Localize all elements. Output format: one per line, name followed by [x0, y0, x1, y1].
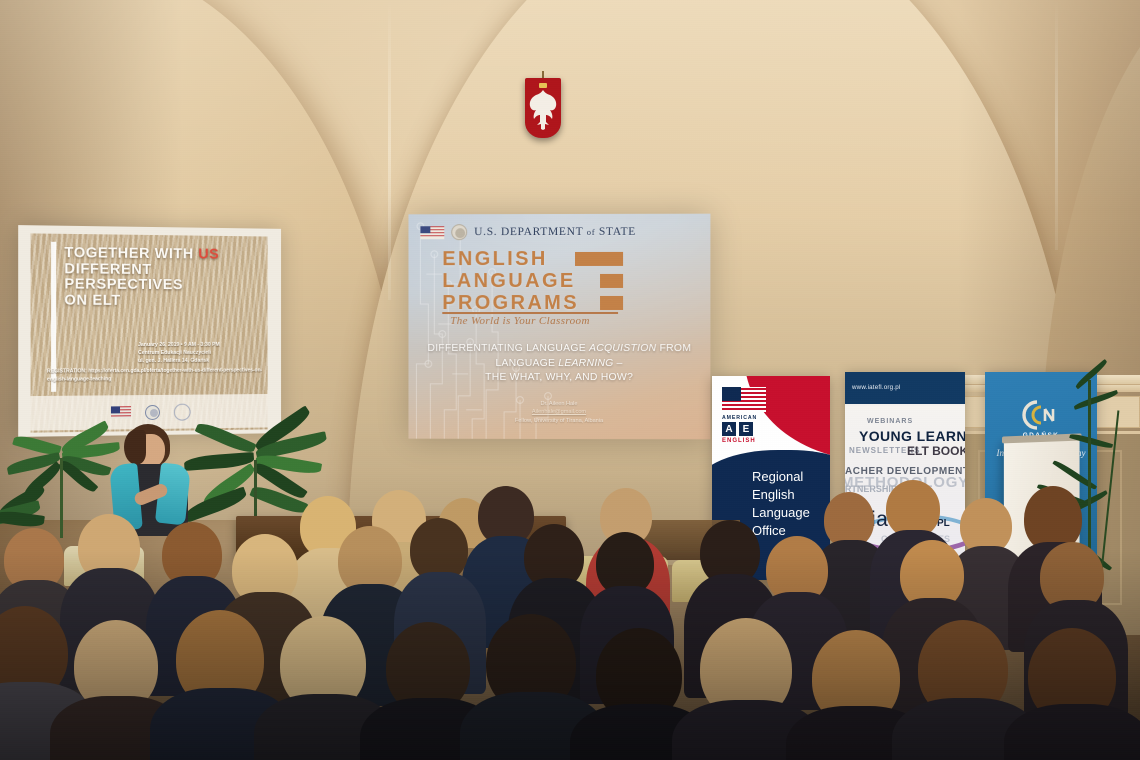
title-l2b: – [613, 358, 622, 369]
dept-of: of [587, 227, 595, 237]
department-wordmark: U.S. DEPARTMENT of STATE [474, 226, 636, 238]
banner-brand-bottom: ENGLISH [722, 438, 756, 444]
banner-brand-small: AMERICAN [722, 415, 757, 421]
presenter-affiliation: Fellow, University of Tirana, Albania [408, 417, 710, 426]
left-title-line4: ON ELT [64, 292, 120, 308]
logo-tagline: The World is Your Classroom [450, 315, 640, 327]
dept-text: U.S. DEPARTMENT [474, 226, 583, 238]
us-flag-icon [722, 387, 766, 412]
dept-state: STATE [599, 226, 636, 238]
left-title-highlight: US [198, 247, 219, 263]
logo-block-2 [600, 274, 623, 288]
left-slide-registration: REGISTRATION: https://oferta.cen.gda.pl/… [47, 367, 264, 383]
left-title-line3: PERSPECTIVES [64, 276, 183, 293]
main-slide-title: DIFFERENTIATING LANGUAGE ACQUISTION FROM… [408, 342, 710, 386]
presenter-hair-side [124, 430, 146, 464]
state-dept-seal-icon [451, 224, 467, 240]
partner-logo-icon [174, 403, 191, 420]
title-l3: THE WHAT, WHY, AND HOW? [485, 372, 633, 383]
banner-brand-letters: A E [722, 422, 753, 436]
left-slide-title: TOGETHER WITH US DIFFERENT PERSPECTIVES … [64, 246, 261, 309]
left-slide: TOGETHER WITH US DIFFERENT PERSPECTIVES … [31, 233, 268, 432]
title-l1a: DIFFERENTIATING LANGUAGE [427, 343, 589, 354]
state-dept-seal-icon [145, 404, 160, 419]
keyword-young-learners: YOUNG LEARNERS [859, 428, 965, 444]
projection-screen-left: TOGETHER WITH US DIFFERENT PERSPECTIVES … [18, 225, 281, 437]
logo-line-3: PROGRAMS [442, 292, 579, 314]
title-l1b: FROM [656, 343, 691, 354]
main-slide-presenter-credits: Dr. Aileen Hale Ailenhale@gmail.com Fell… [408, 400, 710, 426]
title-l1i: ACQUISTION [589, 343, 656, 354]
brand-letter-a: A [722, 422, 736, 436]
projection-screen-main: U.S. DEPARTMENT of STATE ENGLISH LANGUAG… [408, 214, 710, 440]
logo-block-3 [600, 296, 623, 310]
brand-letter-e: E [739, 422, 753, 436]
us-flag-icon [111, 406, 131, 418]
us-flag-icon [420, 226, 444, 239]
left-title-line2: DIFFERENT [64, 261, 151, 278]
title-l2a: LANGUAGE [495, 357, 558, 368]
keyword-elt-books: ELT BOOKS [907, 444, 965, 458]
event-address: ul. gen. J. Hallera 14, Gdańsk [138, 357, 264, 365]
left-slide-event-details: January 26, 2019 • 9 AM - 3:30 PM Centru… [138, 341, 264, 365]
conference-hall-photo: TOGETHER WITH US DIFFERENT PERSPECTIVES … [0, 0, 1140, 760]
cen-logo-icon [1015, 398, 1063, 432]
logo-line-2: LANGUAGE [442, 270, 579, 292]
title-l2i: LEARNING [558, 357, 613, 368]
left-title-line1: TOGETHER WITH [64, 245, 193, 262]
banner-url: www.iatefl.org.pl [852, 384, 900, 391]
polish-coat-of-arms-icon [525, 78, 561, 138]
white-eagle-icon [528, 86, 558, 132]
logo-underline [442, 312, 618, 314]
english-language-programs-logo: ENGLISH LANGUAGE PROGRAMS [442, 248, 579, 314]
keyword-webinars: WEBINARS [867, 418, 913, 425]
seated-audience [0, 470, 1140, 760]
main-slide-header: U.S. DEPARTMENT of STATE [420, 222, 702, 243]
logo-block-1 [575, 252, 623, 266]
logo-line-1: ENGLISH [442, 248, 579, 270]
audience-body [1004, 704, 1140, 760]
